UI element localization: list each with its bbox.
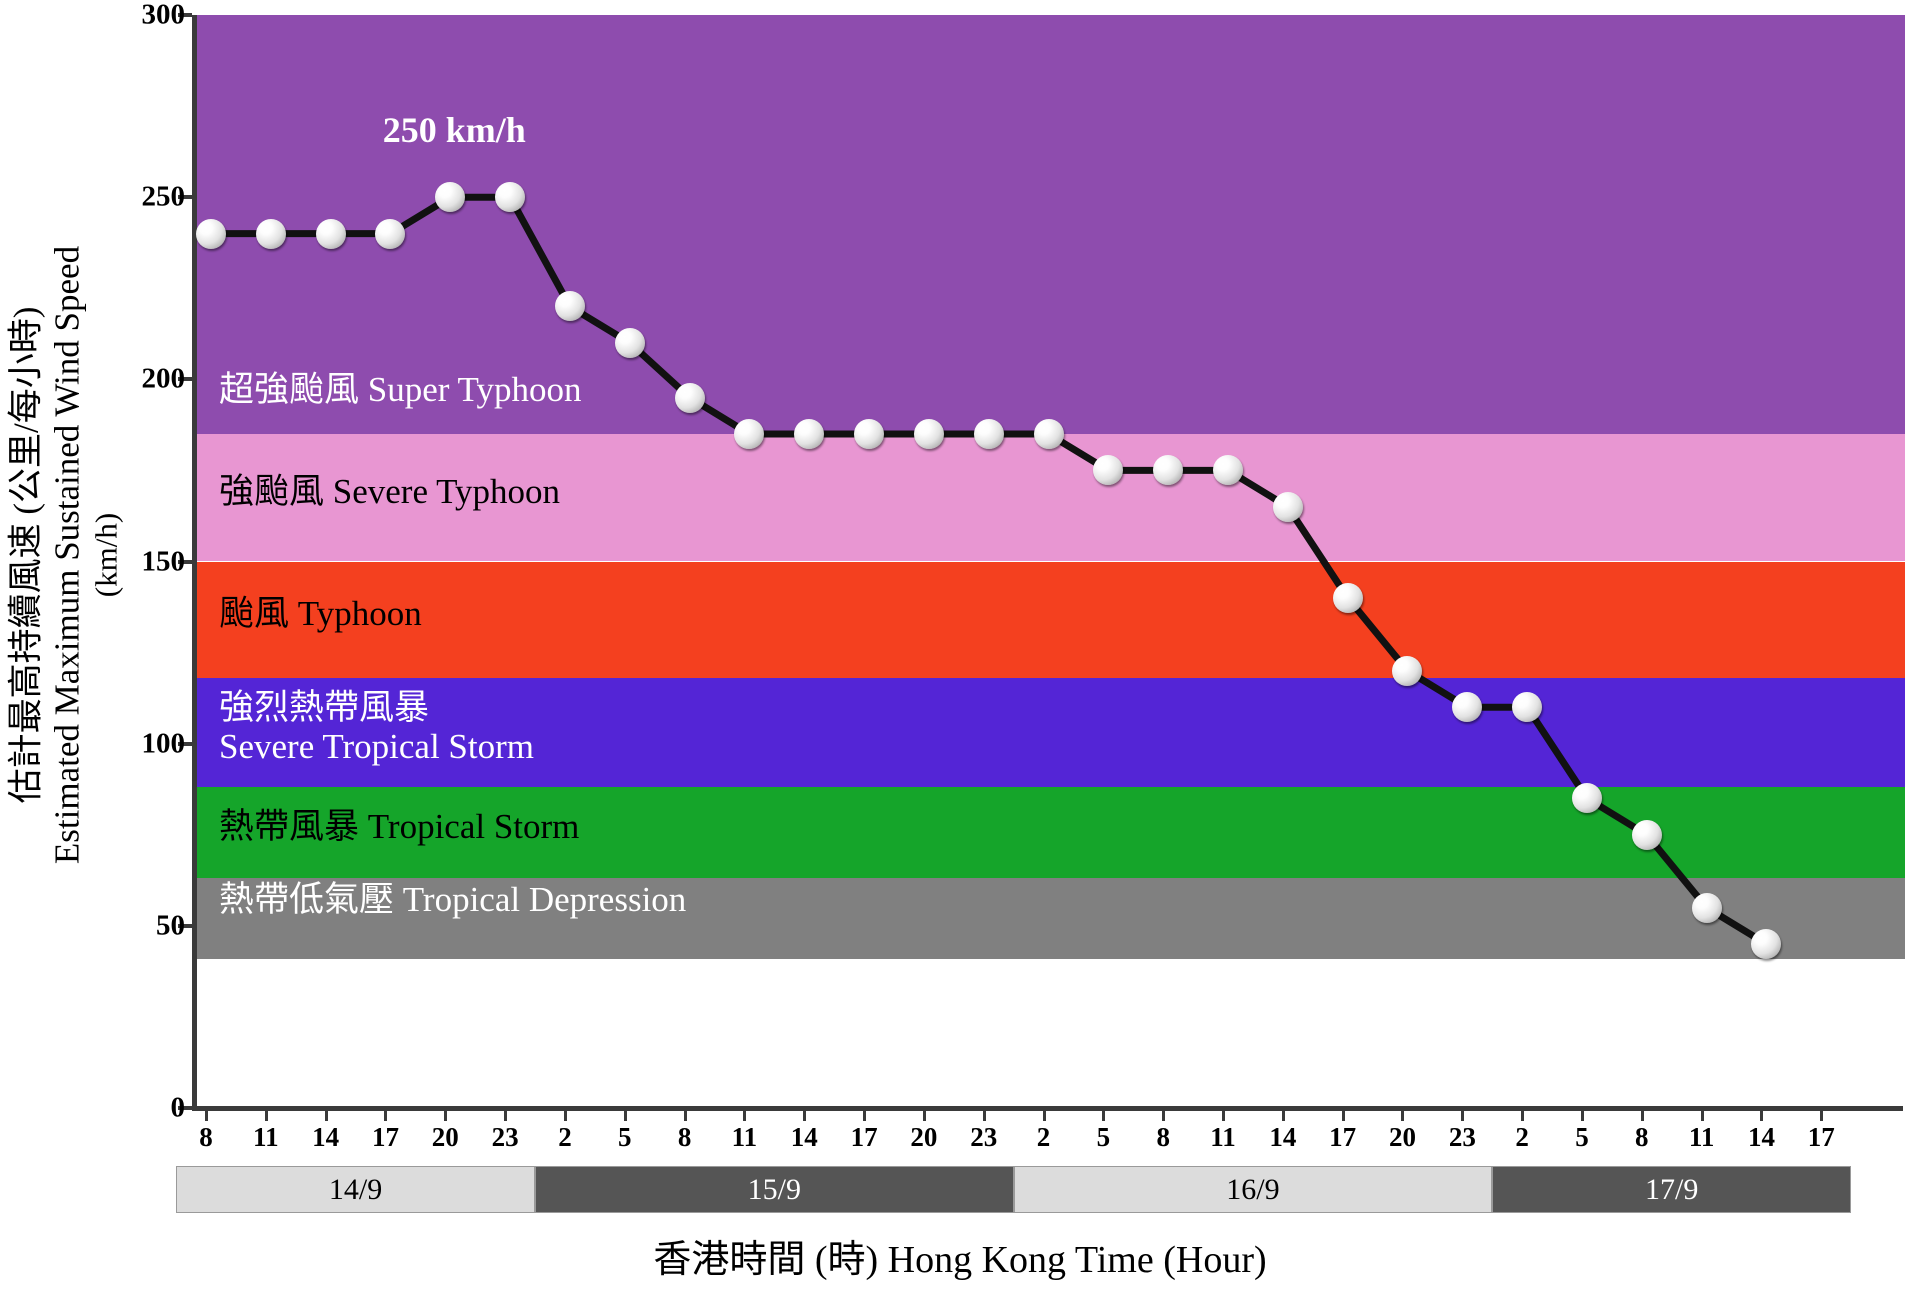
x-tick: [624, 1108, 627, 1121]
x-tick: [1043, 1108, 1046, 1121]
date-cell-15-9: 15/9: [535, 1166, 1014, 1213]
x-tick-label: 17: [1808, 1122, 1835, 1153]
data-point: [375, 219, 405, 249]
x-axis-line: [192, 1106, 1903, 1111]
x-tick-label: 11: [1210, 1122, 1236, 1153]
y-tick-label: 300: [142, 0, 186, 32]
x-tick: [1820, 1108, 1823, 1121]
y-tick-label: 100: [142, 727, 186, 760]
data-point: [734, 419, 764, 449]
data-point: [1452, 692, 1482, 722]
data-point: [1213, 455, 1243, 485]
x-axis-title: 香港時間 (時) Hong Kong Time (Hour): [0, 1228, 1920, 1283]
x-tick: [1222, 1108, 1225, 1121]
data-point: [1093, 455, 1123, 485]
x-tick: [803, 1108, 806, 1121]
x-tick-label: 17: [1329, 1122, 1356, 1153]
x-tick: [1641, 1108, 1644, 1121]
x-tick: [1581, 1108, 1584, 1121]
x-tick-label: 11: [1689, 1122, 1715, 1153]
x-tick: [923, 1108, 926, 1121]
y-tick-label: 150: [142, 545, 186, 578]
data-point: [256, 219, 286, 249]
x-tick-label: 8: [1156, 1122, 1170, 1153]
x-tick-label: 17: [851, 1122, 878, 1153]
data-point: [1751, 929, 1781, 959]
data-point: [1692, 893, 1722, 923]
data-point: [1572, 783, 1602, 813]
x-tick-label: 14: [791, 1122, 818, 1153]
x-tick: [265, 1108, 268, 1121]
x-tick-label: 17: [372, 1122, 399, 1153]
data-point: [555, 291, 585, 321]
x-tick: [325, 1108, 328, 1121]
x-tick-label: 2: [1037, 1122, 1051, 1153]
data-point: [914, 419, 944, 449]
x-tick: [983, 1108, 986, 1121]
x-tick-label: 8: [1635, 1122, 1649, 1153]
plot-area: 超強颱風 Super Typhoon強颱風 Severe Typhoon颱風 T…: [192, 15, 1905, 1108]
x-tick: [384, 1108, 387, 1121]
x-tick: [444, 1108, 447, 1121]
data-point: [974, 419, 1004, 449]
x-tick: [743, 1108, 746, 1121]
data-point: [1333, 583, 1363, 613]
x-tick-label: 14: [312, 1122, 339, 1153]
y-tick-label: 0: [171, 1092, 186, 1125]
data-point: [794, 419, 824, 449]
y-axis-title-cn: 估計最高持續風速 (公里/每小時): [5, 246, 46, 864]
x-tick-label: 14: [1269, 1122, 1296, 1153]
x-tick: [504, 1108, 507, 1121]
date-cell-16-9: 16/9: [1014, 1166, 1493, 1213]
x-tick-label: 20: [910, 1122, 937, 1153]
chart-canvas: 估計最高持續風速 (公里/每小時) Estimated Maximum Sust…: [0, 0, 1920, 1300]
data-point: [854, 419, 884, 449]
x-tick: [1701, 1108, 1704, 1121]
x-tick-label: 11: [732, 1122, 758, 1153]
x-tick: [1102, 1108, 1105, 1121]
x-tick-label: 5: [618, 1122, 632, 1153]
x-tick: [1760, 1108, 1763, 1121]
y-tick-label: 250: [142, 181, 186, 214]
x-tick-label: 5: [1097, 1122, 1111, 1153]
x-tick-label: 20: [1389, 1122, 1416, 1153]
y-axis-title: 估計最高持續風速 (公里/每小時) Estimated Maximum Sust…: [0, 0, 130, 1110]
x-tick: [1342, 1108, 1345, 1121]
x-tick-label: 23: [492, 1122, 519, 1153]
x-tick-label: 11: [253, 1122, 279, 1153]
data-point: [1153, 455, 1183, 485]
x-tick: [564, 1108, 567, 1121]
data-point: [1392, 656, 1422, 686]
x-tick: [205, 1108, 208, 1121]
wind-speed-line: [197, 15, 1905, 1108]
x-tick-label: 23: [970, 1122, 997, 1153]
data-point: [1034, 419, 1064, 449]
y-axis-title-en: Estimated Maximum Sustained Wind Speed: [47, 246, 88, 864]
peak-annotation: 250 km/h: [383, 109, 526, 151]
x-tick: [1162, 1108, 1165, 1121]
data-point: [675, 383, 705, 413]
data-point: [615, 328, 645, 358]
data-point: [196, 219, 226, 249]
x-tick: [684, 1108, 687, 1121]
x-tick-label: 14: [1748, 1122, 1775, 1153]
data-point: [316, 219, 346, 249]
x-tick: [863, 1108, 866, 1121]
y-tick-label: 200: [142, 363, 186, 396]
data-point: [495, 182, 525, 212]
y-axis-title-unit: (km/h): [88, 246, 125, 864]
y-tick-label: 50: [156, 909, 185, 942]
x-tick: [1521, 1108, 1524, 1121]
x-tick-label: 5: [1575, 1122, 1589, 1153]
x-tick-label: 2: [558, 1122, 572, 1153]
x-tick-label: 2: [1515, 1122, 1529, 1153]
date-cell-17-9: 17/9: [1492, 1166, 1851, 1213]
x-tick: [1401, 1108, 1404, 1121]
x-tick: [1461, 1108, 1464, 1121]
x-tick-label: 20: [432, 1122, 459, 1153]
data-point: [1273, 492, 1303, 522]
x-tick-label: 23: [1449, 1122, 1476, 1153]
date-cell-14-9: 14/9: [176, 1166, 535, 1213]
data-point: [1512, 692, 1542, 722]
x-tick-label: 8: [199, 1122, 213, 1153]
x-tick-label: 8: [678, 1122, 692, 1153]
x-tick: [1282, 1108, 1285, 1121]
data-point: [1632, 820, 1662, 850]
data-point: [435, 182, 465, 212]
